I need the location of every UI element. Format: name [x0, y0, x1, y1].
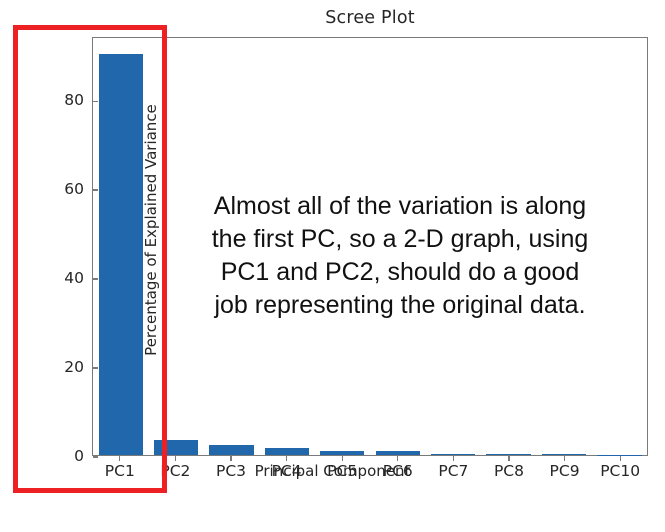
x-axis-label: Principal Component: [0, 462, 665, 480]
y-tick-label: 40: [64, 271, 93, 287]
bar-pc3: [209, 445, 253, 455]
x-tick-mark: [119, 456, 120, 461]
bar-pc6: [376, 451, 420, 455]
bar-pc9: [542, 454, 586, 455]
x-tick-mark: [508, 456, 509, 461]
x-tick-mark: [453, 456, 454, 461]
y-tick-label: 60: [64, 182, 93, 198]
bar-pc5: [320, 451, 364, 455]
x-tick-mark: [620, 456, 621, 461]
annotation-line: job representing the original data.: [175, 289, 625, 322]
annotation-line: PC1 and PC2, should do a good: [175, 256, 625, 289]
x-tick-mark: [564, 456, 565, 461]
scree-plot-figure: Scree Plot Percentage of Explained Varia…: [0, 0, 665, 532]
bar-pc2: [154, 440, 198, 455]
bar-pc7: [431, 454, 475, 455]
annotation-line: the first PC, so a 2-D graph, using: [175, 223, 625, 256]
bar-pc8: [486, 454, 530, 455]
x-tick-mark: [286, 456, 287, 461]
bar-pc4: [265, 448, 309, 455]
bar-slot: [93, 38, 148, 455]
x-tick-mark: [175, 456, 176, 461]
y-tick-label: 20: [64, 360, 93, 376]
y-tick-label: 80: [64, 93, 93, 109]
x-tick-mark: [230, 456, 231, 461]
annotation-line: Almost all of the variation is along: [175, 190, 625, 223]
x-tick-mark: [342, 456, 343, 461]
annotation-text: Almost all of the variation is alongthe …: [175, 190, 625, 322]
chart-title: Scree Plot: [92, 8, 648, 28]
bar-pc1: [99, 54, 143, 455]
x-tick-mark: [397, 456, 398, 461]
